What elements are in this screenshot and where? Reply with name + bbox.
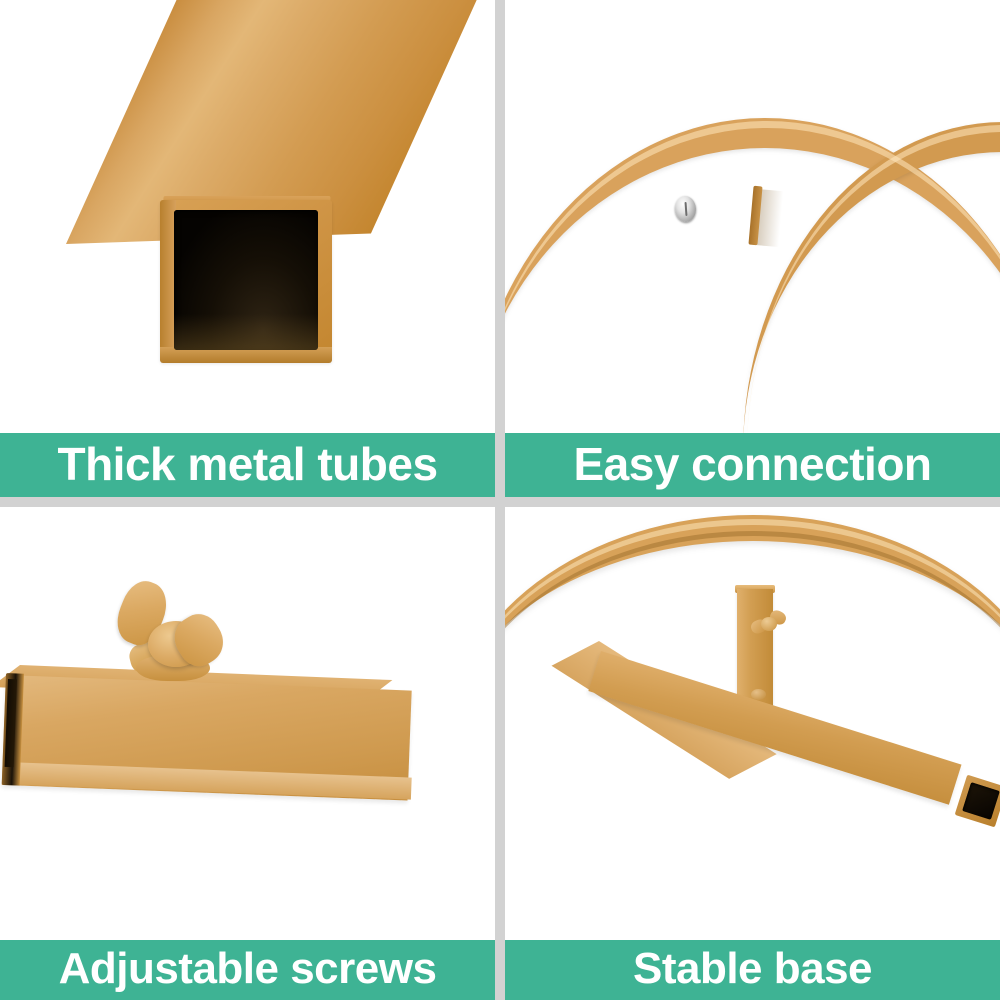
product-photo-square-tube <box>0 0 495 497</box>
post-wing-hub <box>761 617 777 631</box>
caption-label: Thick metal tubes <box>57 441 437 487</box>
product-photo-pipe-connection <box>505 0 1000 497</box>
caption-banner-stable-base: Stable base <box>505 940 1000 1000</box>
caption-label: Easy connection <box>573 441 931 487</box>
feature-grid: Thick metal tubes Easy connection <box>0 0 1000 1000</box>
tube-hollow-cavity <box>174 210 318 350</box>
caption-banner-easy-connection: Easy connection <box>505 433 1000 497</box>
wing-nut-icon <box>116 581 236 693</box>
feature-panel-stable-base[interactable]: Stable base <box>505 507 1000 1000</box>
product-photo-wing-nut <box>0 507 495 1000</box>
product-photo-stable-base <box>505 507 1000 1000</box>
feature-panel-easy-connection[interactable]: Easy connection <box>505 0 1000 497</box>
caption-banner-adjustable-screws: Adjustable screws <box>0 940 495 1000</box>
feature-panel-thick-metal-tubes[interactable]: Thick metal tubes <box>0 0 495 497</box>
caption-label: Adjustable screws <box>59 947 437 991</box>
post-wing-nut-icon <box>751 611 787 635</box>
caption-banner-thick-metal-tubes: Thick metal tubes <box>0 433 495 497</box>
caption-label: Stable base <box>633 947 872 991</box>
feature-panel-adjustable-screws[interactable]: Adjustable screws <box>0 507 495 1000</box>
